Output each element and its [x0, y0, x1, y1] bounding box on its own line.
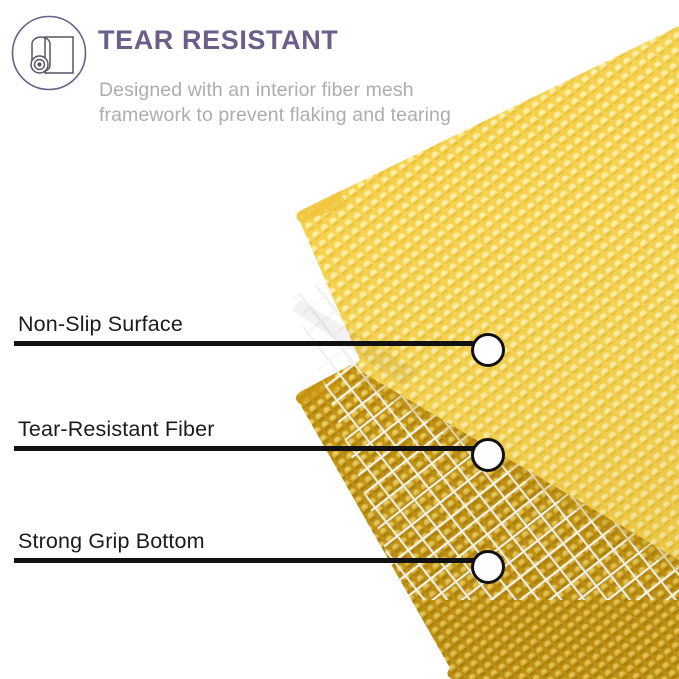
callout-label: Non-Slip Surface	[18, 312, 183, 337]
page-subtitle: Designed with an interior fiber mesh fra…	[99, 78, 459, 128]
callout-dot-tear-resistant-fiber	[471, 438, 505, 472]
product-feature-card: TEAR RESISTANT Designed with an interior…	[0, 0, 679, 679]
callout-dot-non-slip-surface	[471, 333, 505, 367]
callout-leader-line	[14, 446, 484, 451]
callout-leader-line	[14, 558, 484, 563]
page-title: TEAR RESISTANT	[98, 25, 338, 56]
callout-label: Strong Grip Bottom	[18, 529, 205, 554]
mat-roll-icon	[10, 14, 88, 92]
callout-label: Tear-Resistant Fiber	[18, 417, 215, 442]
callout-dot-strong-grip-bottom	[471, 550, 505, 584]
callout-leader-line	[14, 341, 484, 346]
